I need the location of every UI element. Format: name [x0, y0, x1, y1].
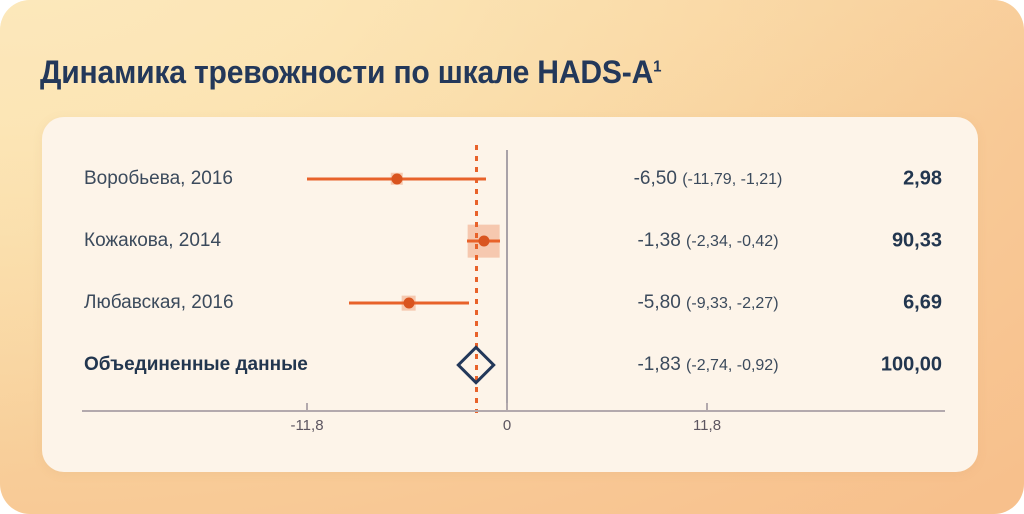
- x-axis-tick: [506, 403, 508, 411]
- forest-row: Любавская, 2016-5,80 (-9,33, -2,27)6,69: [42, 275, 978, 331]
- pooled-label: Объединенные данные: [84, 354, 308, 376]
- effect-estimate-cell: -5,80 (-9,33, -2,27): [572, 292, 844, 314]
- effect-point-estimate: [391, 174, 402, 185]
- page-title-text: Динамика тревожности по шкале HADS-A: [40, 54, 653, 90]
- study-label: Любавская, 2016: [84, 292, 234, 314]
- effect-value: -5,80: [637, 292, 686, 313]
- weight-cell: 6,69: [832, 292, 942, 315]
- effect-estimate-cell: -1,38 (-2,34, -0,42): [572, 230, 844, 252]
- forest-row: Воробьева, 2016-6,50 (-11,79, -1,21)2,98: [42, 151, 978, 207]
- weight-cell: 2,98: [832, 168, 942, 191]
- effect-point-estimate: [478, 236, 489, 247]
- pooled-effect-diamond: [456, 345, 496, 385]
- study-label: Кожакова, 2014: [84, 230, 221, 252]
- effect-value: -1,38: [637, 230, 686, 251]
- confidence-interval-value: (-2,34, -0,42): [686, 233, 778, 250]
- weight-cell: 90,33: [832, 230, 942, 253]
- page-title-footnote-marker: 1: [653, 59, 661, 76]
- x-axis-tick: [706, 403, 708, 411]
- forest-row: Кожакова, 2014-1,38 (-2,34, -0,42)90,33: [42, 213, 978, 269]
- effect-estimate-cell: -6,50 (-11,79, -1,21): [572, 168, 844, 190]
- page-title: Динамика тревожности по шкале HADS-A1: [40, 54, 661, 91]
- effect-point-estimate: [403, 298, 414, 309]
- forest-row: Объединенные данные-1,83 (-2,74, -0,92)1…: [42, 337, 978, 393]
- study-label: Воробьева, 2016: [84, 168, 233, 190]
- effect-value: -6,50: [634, 168, 683, 189]
- effect-value: -1,83: [637, 354, 686, 375]
- x-axis-tick-label: -11,8: [290, 417, 323, 434]
- weight-cell: 100,00: [832, 354, 942, 377]
- x-axis-tick-label: 11,8: [693, 417, 721, 434]
- forest-plot: Воробьева, 2016-6,50 (-11,79, -1,21)2,98…: [42, 117, 978, 472]
- chart-card: Воробьева, 2016-6,50 (-11,79, -1,21)2,98…: [42, 117, 978, 472]
- effect-estimate-cell: -1,83 (-2,74, -0,92): [572, 354, 844, 376]
- x-axis-line: [82, 410, 945, 412]
- confidence-interval-value: (-11,79, -1,21): [682, 171, 782, 188]
- confidence-interval-value: (-2,74, -0,92): [686, 357, 778, 374]
- x-axis-tick-label: 0: [503, 417, 511, 434]
- confidence-interval-value: (-9,33, -2,27): [686, 295, 778, 312]
- x-axis-tick: [306, 403, 308, 411]
- poster-root: Динамика тревожности по шкале HADS-A1 Во…: [0, 0, 1024, 514]
